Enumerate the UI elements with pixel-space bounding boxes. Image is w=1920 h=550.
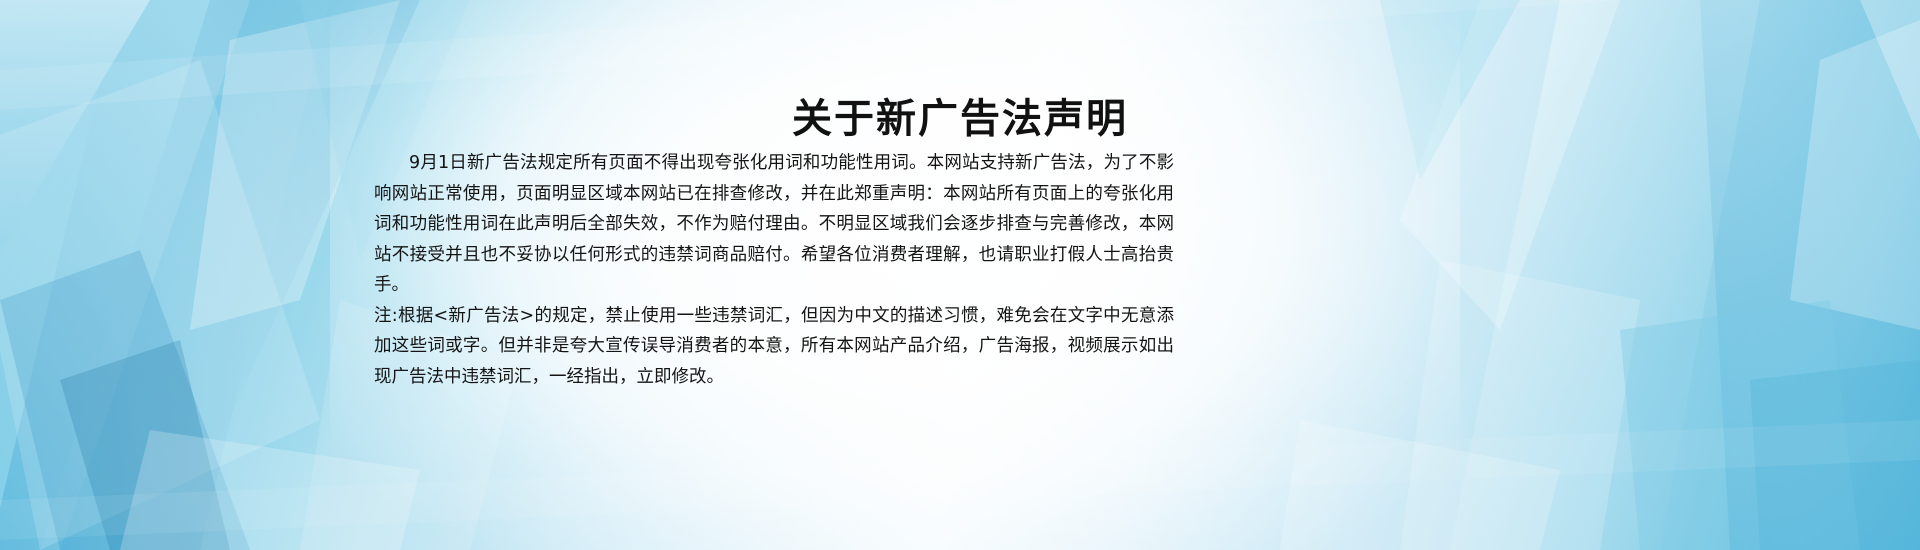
statement-body: 9月1日新广告法规定所有页面不得出现夸张化用词和功能性用词。本网站支持新广告法，…: [374, 148, 1174, 392]
statement-paragraph-2: 注:根据<新广告法>的规定，禁止使用一些违禁词汇，但因为中文的描述习惯，难免会在…: [374, 301, 1174, 393]
statement-paragraph-1: 9月1日新广告法规定所有页面不得出现夸张化用词和功能性用词。本网站支持新广告法，…: [374, 148, 1174, 301]
page-title: 关于新广告法声明: [0, 86, 1920, 144]
advertising-law-statement-banner: 关于新广告法声明 9月1日新广告法规定所有页面不得出现夸张化用词和功能性用词。本…: [0, 0, 1920, 550]
statement-content: 关于新广告法声明 9月1日新广告法规定所有页面不得出现夸张化用词和功能性用词。本…: [0, 0, 1920, 550]
